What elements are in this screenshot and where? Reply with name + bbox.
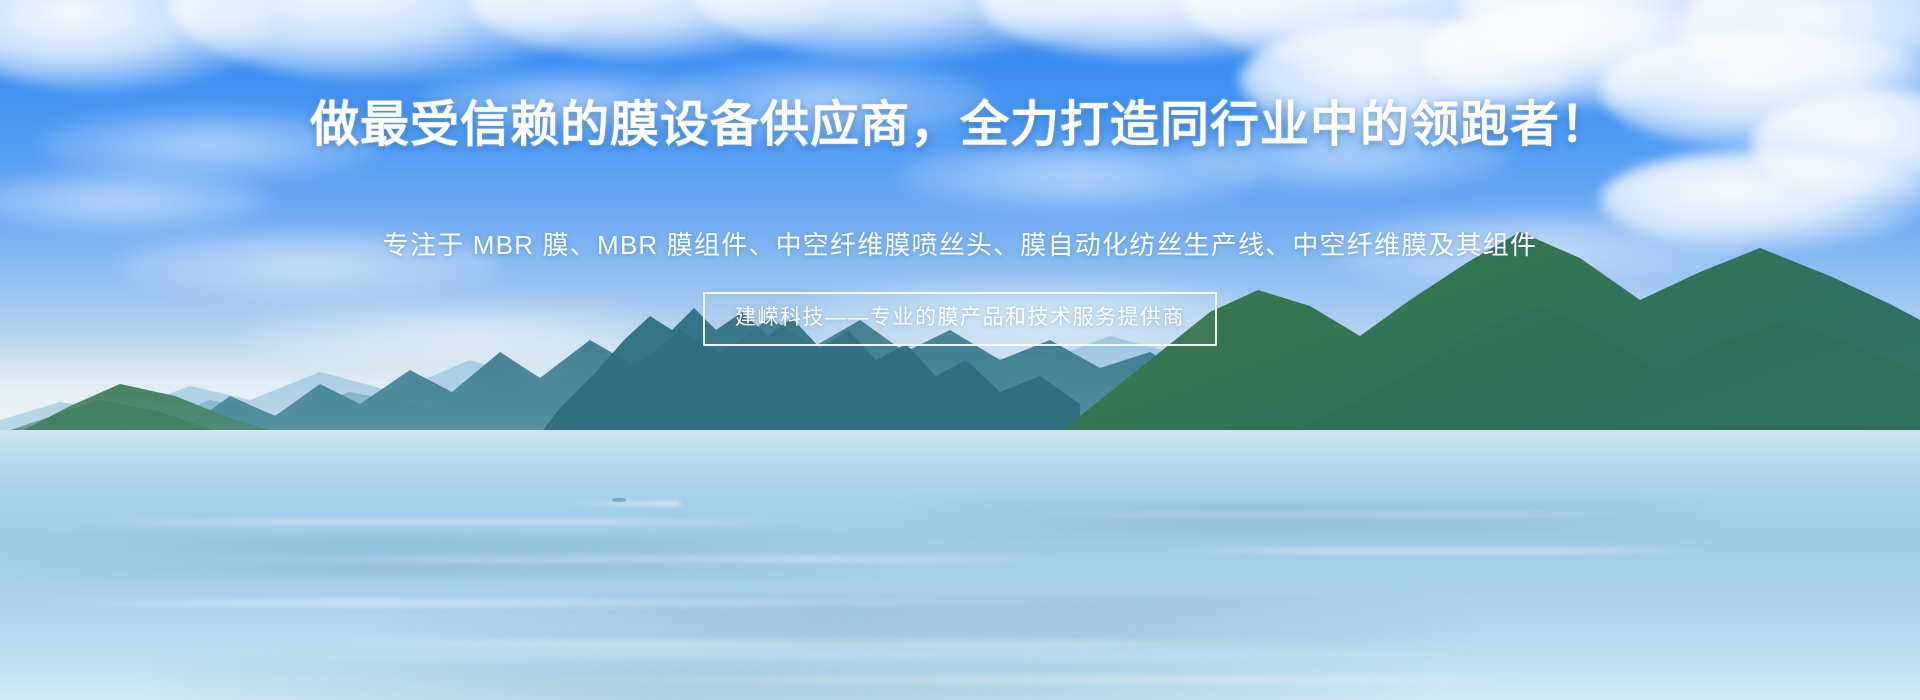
hero-headline: 做最受信赖的膜设备供应商，全力打造同行业中的领跑者！ [0, 96, 1920, 154]
hero-tagline-box: 建嵘科技——专业的膜产品和技术服务提供商 [703, 292, 1217, 346]
hero-copy: 做最受信赖的膜设备供应商，全力打造同行业中的领跑者！ 专注于 MBR 膜、MBR… [0, 0, 1920, 700]
hero-tagline-wrapper: 建嵘科技——专业的膜产品和技术服务提供商 [0, 292, 1920, 346]
hero-subheadline: 专注于 MBR 膜、MBR 膜组件、中空纤维膜喷丝头、膜自动化纺丝生产线、中空纤… [0, 228, 1920, 262]
hero-banner: 做最受信赖的膜设备供应商，全力打造同行业中的领跑者！ 专注于 MBR 膜、MBR… [0, 0, 1920, 700]
